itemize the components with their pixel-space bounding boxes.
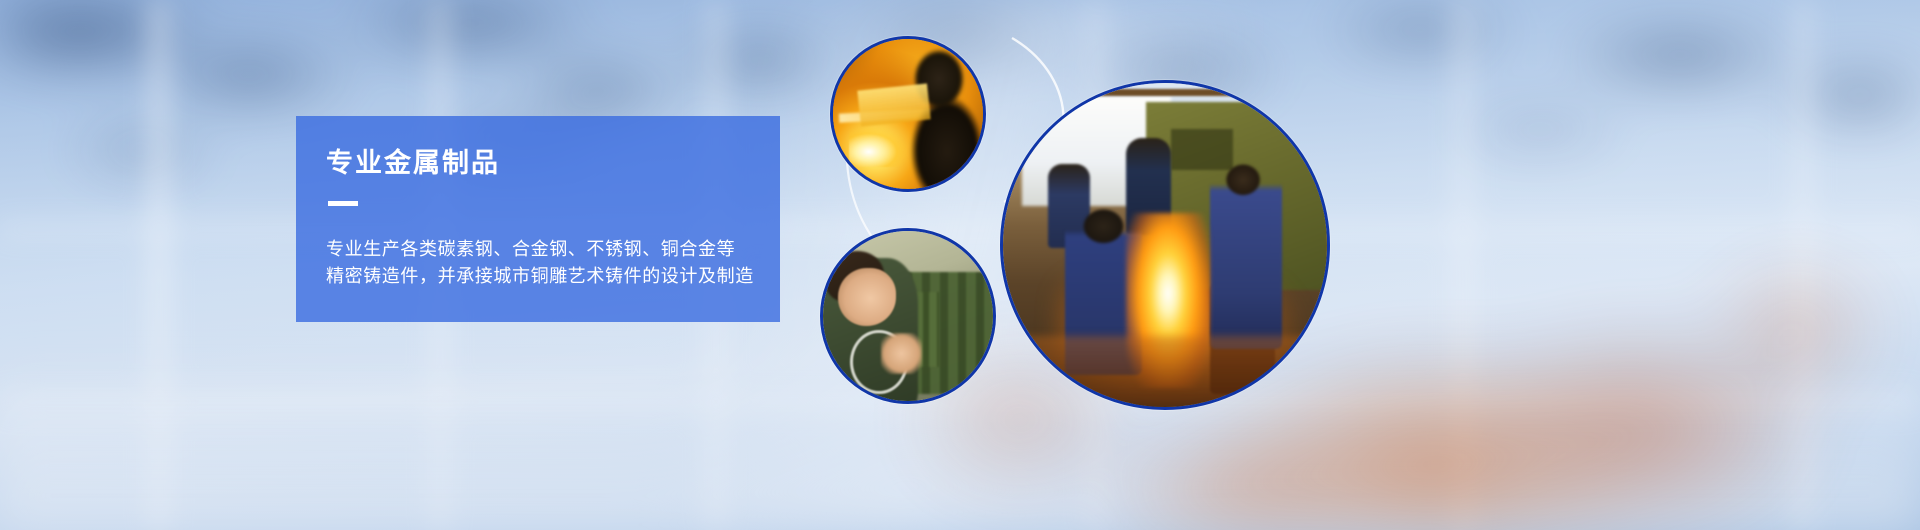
welding-photo-background — [833, 39, 983, 189]
foundry-pour-photo — [1000, 80, 1330, 410]
welding-spark-burst — [849, 127, 907, 167]
welding-sparks-photo — [830, 36, 986, 192]
hero-banner: 专业金属制品 专业生产各类碳素钢、合金钢、不锈钢、铜合金等 精密铸造件，并承接城… — [0, 0, 1920, 530]
assembly-worker-photo — [820, 228, 996, 404]
page-title: 专业金属制品 — [326, 150, 780, 177]
info-panel: 专业金属制品 专业生产各类碳素钢、合金钢、不锈钢、铜合金等 精密铸造件，并承接城… — [296, 116, 780, 322]
assembly-worker-hands — [881, 333, 922, 374]
foundry-worker-right — [1210, 161, 1281, 349]
assembly-worker-face — [838, 268, 896, 326]
welding-face-shield — [857, 83, 930, 126]
foundry-floor — [1003, 336, 1327, 407]
foundry-photo-background — [1003, 83, 1327, 407]
title-divider — [328, 201, 358, 206]
panel-description: 专业生产各类碳素钢、合金钢、不锈钢、铜合金等 精密铸造件，并承接城市铜雕艺术铸件… — [326, 236, 780, 291]
foundry-ceiling-beam — [1029, 89, 1262, 96]
assembly-photo-background — [823, 231, 993, 401]
